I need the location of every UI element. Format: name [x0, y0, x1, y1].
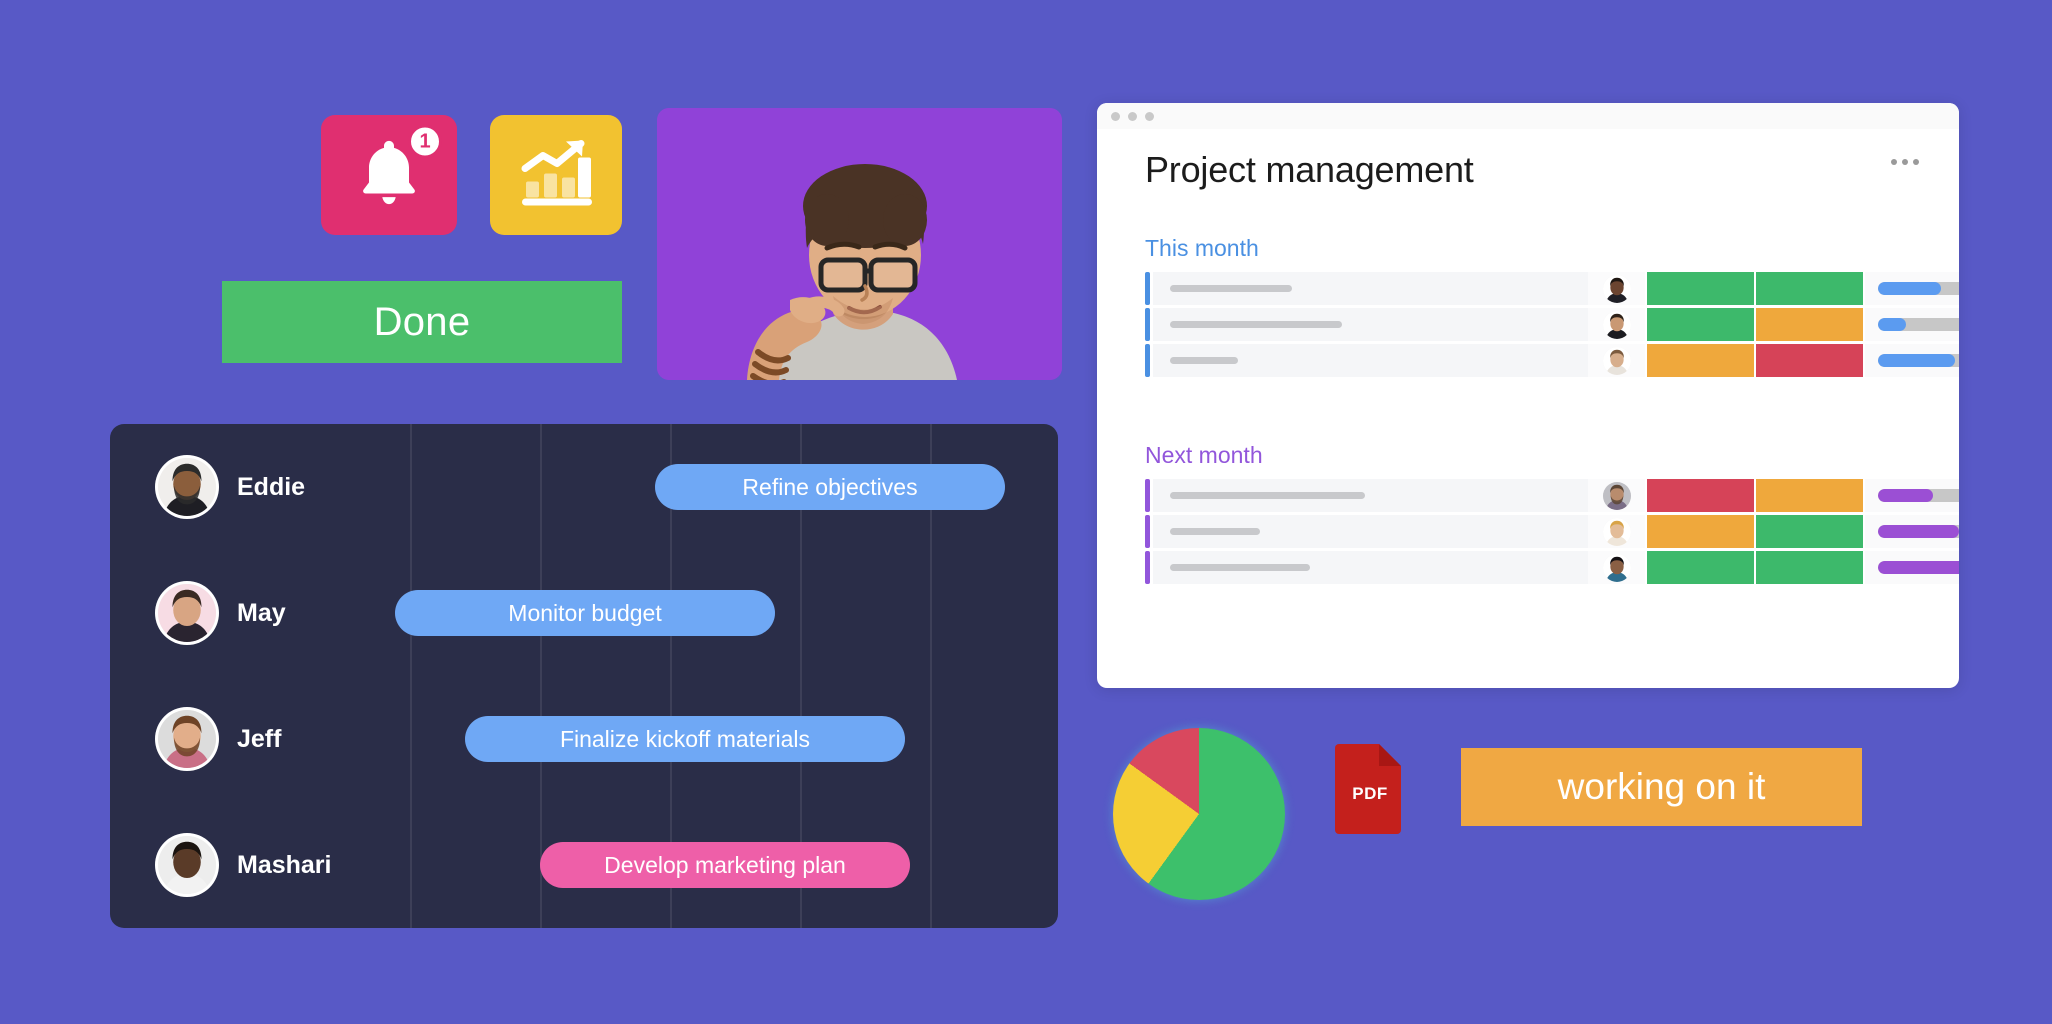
avatar [1603, 518, 1631, 546]
pdf-label: PDF [1333, 784, 1407, 804]
progress-fill [1878, 525, 1959, 538]
avatar-row-3 [1603, 347, 1631, 375]
gantt-row: MayMonitor budget [110, 550, 1058, 676]
avatar-mashari [158, 836, 216, 894]
avatar [158, 584, 216, 642]
gantt-row: EddieRefine objectives [110, 424, 1058, 550]
done-button[interactable]: Done [222, 281, 622, 363]
bell-icon: 1 [349, 133, 429, 218]
avatar [1603, 347, 1631, 375]
row-title-placeholder [1170, 528, 1260, 535]
row-accent-bar [1145, 551, 1150, 584]
row-title-cell[interactable] [1153, 344, 1588, 377]
gantt-task-bar[interactable]: Monitor budget [395, 590, 775, 636]
row-accent-bar [1145, 479, 1150, 512]
progress-track [1878, 354, 1959, 367]
progress-fill [1878, 354, 1955, 367]
progress-fill [1878, 489, 1933, 502]
more-options-icon[interactable] [1891, 159, 1919, 165]
pm-section-rows [1145, 479, 1923, 587]
done-button-label: Done [374, 300, 471, 345]
table-row[interactable] [1145, 515, 1923, 548]
photo-card [657, 108, 1062, 380]
row-owner-cell[interactable] [1588, 515, 1645, 548]
avatar [1603, 311, 1631, 339]
window-chrome [1097, 103, 1959, 129]
pm-section-rows [1145, 272, 1923, 380]
more-dot-1 [1891, 159, 1897, 165]
row-owner-cell[interactable] [1588, 272, 1645, 305]
gantt-person: May [158, 584, 286, 642]
gantt-person-name: Jeff [237, 725, 281, 754]
row-title-placeholder [1170, 285, 1292, 292]
avatar-may [158, 584, 216, 642]
gantt-task-bar[interactable]: Refine objectives [655, 464, 1005, 510]
row-status-cell-2[interactable] [1756, 515, 1863, 548]
row-progress-cell[interactable] [1865, 515, 1959, 548]
row-status-cell-2[interactable] [1756, 551, 1863, 584]
avatar [158, 836, 216, 894]
row-status-cell-2[interactable] [1756, 308, 1863, 341]
row-title-placeholder [1170, 321, 1342, 328]
row-progress-cell[interactable] [1865, 344, 1959, 377]
gantt-row: JeffFinalize kickoff materials [110, 676, 1058, 802]
progress-track [1878, 489, 1959, 502]
row-title-cell[interactable] [1153, 551, 1588, 584]
progress-track [1878, 561, 1959, 574]
row-title-cell[interactable] [1153, 515, 1588, 548]
chart-glyph [517, 136, 595, 210]
avatar [1603, 554, 1631, 582]
person-photo [657, 108, 1062, 380]
row-owner-cell[interactable] [1588, 551, 1645, 584]
row-status-cell-1[interactable] [1647, 308, 1754, 341]
gantt-person: Eddie [158, 458, 305, 516]
table-row[interactable] [1145, 344, 1923, 377]
gantt-person-name: Eddie [237, 473, 305, 502]
table-row[interactable] [1145, 308, 1923, 341]
gantt-person: Jeff [158, 710, 281, 768]
row-accent-bar [1145, 344, 1150, 377]
gantt-task-bar[interactable]: Finalize kickoff materials [465, 716, 905, 762]
project-management-card: Project management This month Next month [1097, 103, 1959, 688]
row-title-placeholder [1170, 357, 1238, 364]
avatar-row-4 [1603, 482, 1631, 510]
avatar-row-5 [1603, 518, 1631, 546]
gantt-person-name: May [237, 599, 286, 628]
progress-fill [1878, 561, 1959, 574]
gantt-row: MashariDevelop marketing plan [110, 802, 1058, 928]
notification-badge: 1 [408, 125, 442, 159]
pm-section-label: Next month [1145, 442, 1263, 469]
working-on-it-label: working on it [1558, 766, 1766, 808]
row-progress-cell[interactable] [1865, 479, 1959, 512]
row-owner-cell[interactable] [1588, 308, 1645, 341]
more-dot-2 [1902, 159, 1908, 165]
table-row[interactable] [1145, 272, 1923, 305]
pdf-file-icon[interactable]: PDF [1333, 740, 1407, 834]
table-row[interactable] [1145, 479, 1923, 512]
pm-section-label: This month [1145, 235, 1259, 262]
row-owner-cell[interactable] [1588, 344, 1645, 377]
row-status-cell-2[interactable] [1756, 344, 1863, 377]
window-dot-3[interactable] [1145, 112, 1154, 121]
gantt-panel: EddieRefine objectives MayMonitor budget… [110, 424, 1058, 928]
working-on-it-button[interactable]: working on it [1461, 748, 1862, 826]
progress-fill [1878, 282, 1941, 295]
row-accent-bar [1145, 272, 1150, 305]
canvas: 1 Done [0, 0, 2052, 1024]
table-row[interactable] [1145, 551, 1923, 584]
row-accent-bar [1145, 515, 1150, 548]
row-status-cell-1[interactable] [1647, 551, 1754, 584]
progress-fill [1878, 318, 1906, 331]
chart-tile[interactable] [490, 115, 622, 235]
row-title-cell[interactable] [1153, 308, 1588, 341]
avatar [1603, 275, 1631, 303]
row-title-cell[interactable] [1153, 479, 1588, 512]
row-progress-cell[interactable] [1865, 272, 1959, 305]
row-status-cell-1[interactable] [1647, 515, 1754, 548]
trending-up-bar-chart-icon [517, 136, 595, 215]
gantt-task-bar[interactable]: Develop marketing plan [540, 842, 910, 888]
avatar-row-2 [1603, 311, 1631, 339]
row-status-cell-2[interactable] [1756, 479, 1863, 512]
window-dot-1[interactable] [1111, 112, 1120, 121]
avatar-eddie [158, 458, 216, 516]
avatar-row-6 [1603, 554, 1631, 582]
status-pie-chart [1113, 728, 1285, 900]
window-dot-2[interactable] [1128, 112, 1137, 121]
page-title: Project management [1145, 149, 1474, 191]
row-progress-cell[interactable] [1865, 551, 1959, 584]
progress-track [1878, 525, 1959, 538]
row-owner-cell[interactable] [1588, 479, 1645, 512]
gantt-person-name: Mashari [237, 851, 331, 880]
progress-track [1878, 282, 1959, 295]
row-accent-bar [1145, 308, 1150, 341]
row-title-placeholder [1170, 564, 1310, 571]
avatar [1603, 482, 1631, 510]
row-progress-cell[interactable] [1865, 308, 1959, 341]
row-title-cell[interactable] [1153, 272, 1588, 305]
row-status-cell-1[interactable] [1647, 479, 1754, 512]
avatar-jeff [158, 710, 216, 768]
row-status-cell-1[interactable] [1647, 272, 1754, 305]
more-dot-3 [1913, 159, 1919, 165]
avatar-row-1 [1603, 275, 1631, 303]
row-status-cell-2[interactable] [1756, 272, 1863, 305]
row-title-placeholder [1170, 492, 1365, 499]
avatar [158, 458, 216, 516]
notification-tile[interactable]: 1 [321, 115, 457, 235]
row-status-cell-1[interactable] [1647, 344, 1754, 377]
avatar [158, 710, 216, 768]
gantt-person: Mashari [158, 836, 331, 894]
progress-track [1878, 318, 1959, 331]
